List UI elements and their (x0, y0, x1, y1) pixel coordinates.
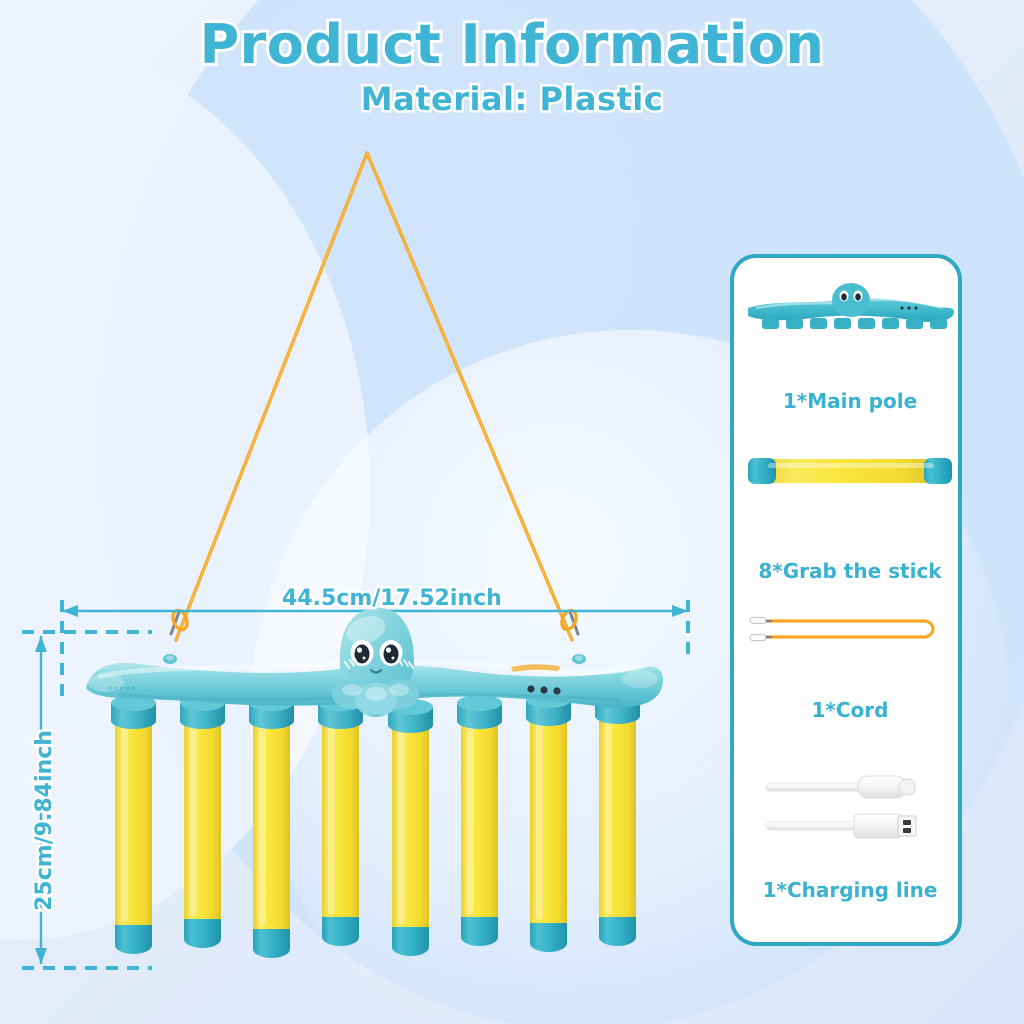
part-label-charging-line: 1*Charging line (734, 878, 966, 902)
grab-stick (392, 722, 429, 956)
octopus-head (332, 608, 419, 717)
main-pole-icon (742, 282, 958, 342)
grab-stick (599, 712, 636, 946)
part-label-main-pole: 1*Main pole (734, 389, 966, 413)
hanging-cord (176, 153, 572, 640)
grab-stick (461, 718, 498, 946)
grab-stick-icon (746, 454, 954, 488)
part-label-grab-stick: 8*Grab the stick (734, 559, 966, 583)
charging-line-icon (762, 770, 938, 854)
height-dimension-label: 25cm/9.84inch (32, 730, 57, 911)
grab-stick (530, 714, 567, 952)
part-label-cord: 1*Cord (734, 698, 966, 722)
grab-stick (322, 718, 359, 946)
grab-stick (253, 718, 290, 958)
width-dimension-label: 44.5cm/17.52inch (282, 586, 502, 611)
grab-stick (184, 718, 221, 948)
cord-icon (746, 614, 954, 646)
grab-sticks-group (115, 712, 636, 958)
grab-stick (115, 718, 152, 954)
product-information-infographic: Product Information Material: Plastic (0, 0, 1024, 1024)
parts-list-panel: 1*Main pole 8*Grab the stick 1*Cord 1*Ch… (730, 254, 962, 946)
cord-clip-right (559, 608, 586, 664)
